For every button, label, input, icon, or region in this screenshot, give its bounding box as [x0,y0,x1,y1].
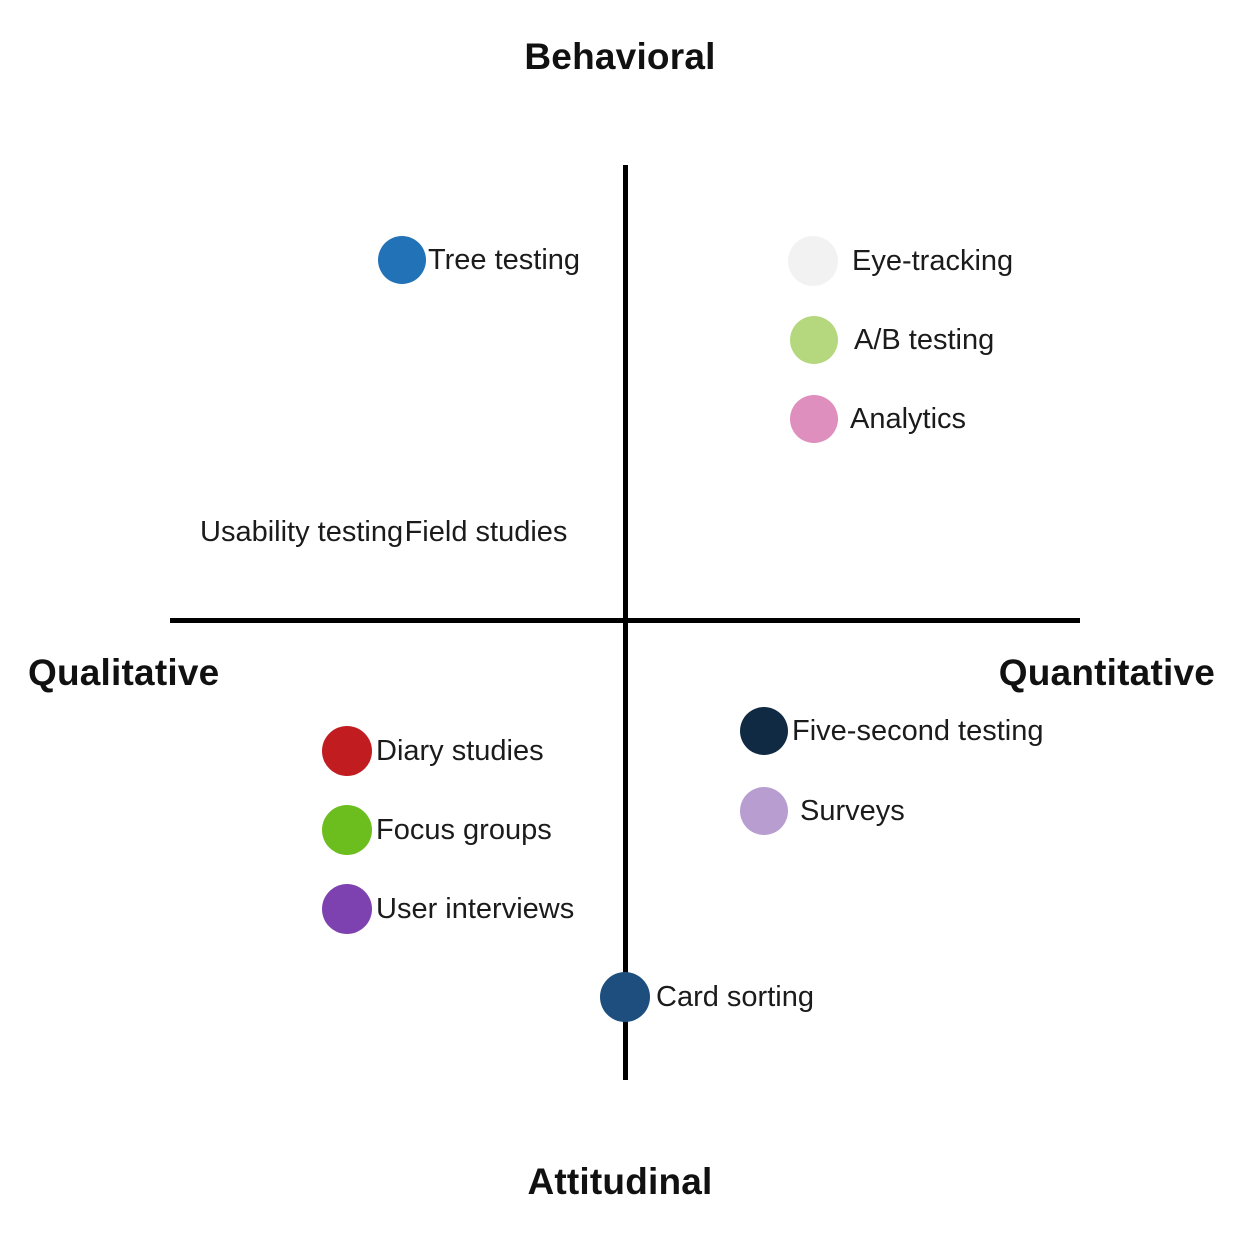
method-dot [322,805,372,855]
method-focus-groups[interactable]: Focus groups [322,805,552,855]
method-label: Card sorting [656,983,814,1012]
method-label: Eye-tracking [852,247,1013,276]
method-dot [378,236,426,284]
method-label: Usability testing [200,512,380,553]
method-label: A/B testing [854,326,994,355]
method-analytics[interactable]: Analytics [790,395,966,443]
method-dot [322,884,372,934]
axis-label-top: Behavioral [0,36,1240,78]
axis-label-bottom: Attitudinal [0,1161,1240,1203]
method-label: Five-second testing [792,717,1043,746]
axis-label-right: Quantitative [999,652,1215,694]
method-dot [740,787,788,835]
method-label: User interviews [376,895,574,924]
method-dot [322,726,372,776]
method-dot [790,316,838,364]
method-surveys[interactable]: Surveys [740,787,905,835]
method-card-sorting[interactable]: Card sorting [600,972,814,1022]
method-dot [790,395,838,443]
horizontal-axis [170,618,1080,623]
method-dot [788,236,838,286]
method-field-studies[interactable]: Field studies [398,512,574,553]
method-dot [740,707,788,755]
method-tree-testing[interactable]: Tree testing [378,236,580,284]
method-label: Analytics [850,405,966,434]
method-five-second-testing[interactable]: Five-second testing [740,707,1043,755]
axis-label-left: Qualitative [28,652,219,694]
method-label: Diary studies [376,737,544,766]
method-usability-testing[interactable]: Usability testing [200,512,380,553]
method-label: Tree testing [428,246,580,275]
method-user-interviews[interactable]: User interviews [322,884,574,934]
quadrant-diagram: Behavioral Attitudinal Qualitative Quant… [0,0,1240,1240]
method-label: Field studies [398,512,574,553]
method-eye-tracking[interactable]: Eye-tracking [788,236,1013,286]
method-diary-studies[interactable]: Diary studies [322,726,544,776]
method-label: Surveys [800,797,905,826]
method-dot [600,972,650,1022]
method-ab-testing[interactable]: A/B testing [790,316,994,364]
method-label: Focus groups [376,816,552,845]
